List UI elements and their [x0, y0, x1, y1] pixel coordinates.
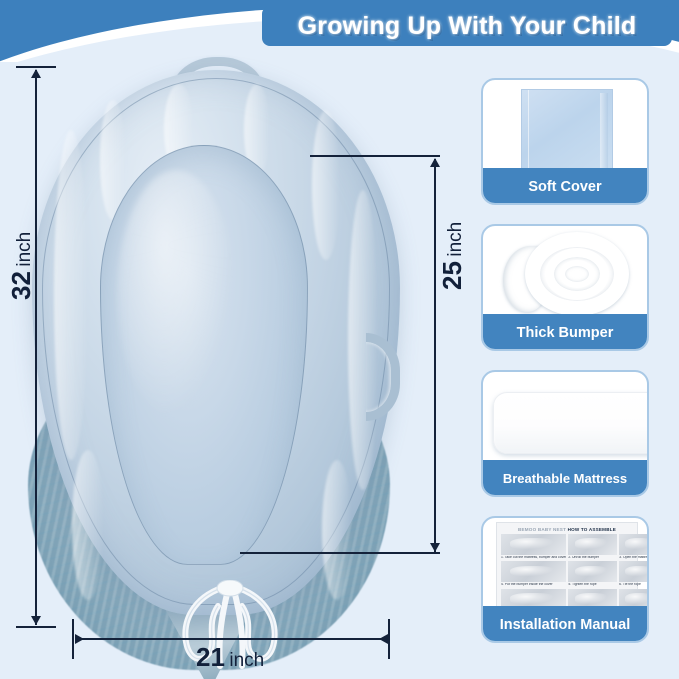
manual-step-caption: 4. Put the bumper inside the cover — [501, 583, 566, 587]
nest-inner-highlight — [117, 170, 235, 420]
manual-step-caption: 3. Open the mattress zipper — [619, 556, 647, 560]
title-pill: Growing Up With Your Child — [262, 6, 672, 46]
rolled-bumper-icon — [501, 230, 633, 318]
card-label-band: Breathable Mattress — [481, 460, 649, 497]
manual-step-photo — [501, 534, 566, 555]
dim-32-line — [35, 70, 37, 625]
dim-32-cap-top — [16, 66, 56, 68]
manual-step-photo — [568, 561, 617, 582]
soft-cover-image — [483, 80, 647, 174]
card-label-band: Soft Cover — [481, 168, 649, 205]
dim-label-25: 25 inch — [437, 222, 468, 290]
dim-32-arrow-bottom — [31, 616, 41, 625]
dim-25-arrow-bottom — [430, 543, 440, 552]
manual-step-caption: 2. Unroll the bumper — [568, 556, 617, 560]
dim-25-leader-top — [310, 155, 440, 157]
accessory-card-list: Soft Cover Thick Bumper B — [481, 78, 651, 662]
manual-step-photo — [568, 534, 617, 555]
mattress-slab-icon — [493, 392, 647, 454]
thick-bumper-image — [483, 226, 647, 320]
dim-21-cap-right — [388, 619, 390, 659]
manual-sheet: BEMOO BABY NEST HOW TO ASSEMBLE 1. Take … — [496, 522, 638, 609]
manual-heading: BEMOO BABY NEST HOW TO ASSEMBLE — [501, 527, 633, 532]
manual-step-photo — [619, 561, 647, 582]
card-label-soft-cover: Soft Cover — [528, 179, 601, 195]
manual-step-caption: 6. Tie the rope — [619, 583, 647, 587]
breathable-mattress-image — [483, 372, 647, 466]
dim-21-cap-left — [72, 619, 74, 659]
bumper-coil-inner — [559, 260, 595, 288]
card-breathable-mattress[interactable]: Breathable Mattress — [481, 370, 649, 497]
manual-brand: BEMOO BABY NEST — [518, 527, 566, 532]
product-photo — [0, 40, 470, 679]
dim-21-arrow-right — [379, 634, 388, 644]
card-label-thick-bumper: Thick Bumper — [517, 325, 614, 341]
dim-21-line — [76, 638, 388, 640]
card-label-band: Installation Manual — [481, 606, 649, 643]
dim-32-cap-bottom — [16, 626, 56, 628]
manual-step-caption: 1. Take out the mattress, bumper and cov… — [501, 556, 566, 560]
card-label-breathable-mattress: Breathable Mattress — [503, 471, 627, 486]
dim-25-line — [434, 159, 436, 552]
folded-fabric-icon — [521, 89, 613, 174]
manual-step-photo — [501, 561, 566, 582]
dim-label-21: 21 inch — [196, 642, 264, 673]
manual-step-caption: 5. Tighten the rope — [568, 583, 617, 587]
card-installation-manual[interactable]: BEMOO BABY NEST HOW TO ASSEMBLE 1. Take … — [481, 516, 649, 643]
card-label-band: Thick Bumper — [481, 314, 649, 351]
manual-step-grid: 1. Take out the mattress, bumper and cov… — [501, 534, 633, 612]
manual-heading-text: HOW TO ASSEMBLE — [568, 527, 616, 532]
page-title: Growing Up With Your Child — [298, 12, 637, 41]
installation-manual-image: BEMOO BABY NEST HOW TO ASSEMBLE 1. Take … — [483, 518, 647, 612]
dim-label-32: 32 inch — [6, 232, 37, 300]
card-thick-bumper[interactable]: Thick Bumper — [481, 224, 649, 351]
card-label-installation-manual: Installation Manual — [500, 617, 631, 633]
dim-25-leader-bottom — [240, 552, 440, 554]
card-soft-cover[interactable]: Soft Cover — [481, 78, 649, 205]
manual-step-photo — [619, 534, 647, 555]
product-infographic: Growing Up With Your Child — [0, 0, 679, 679]
